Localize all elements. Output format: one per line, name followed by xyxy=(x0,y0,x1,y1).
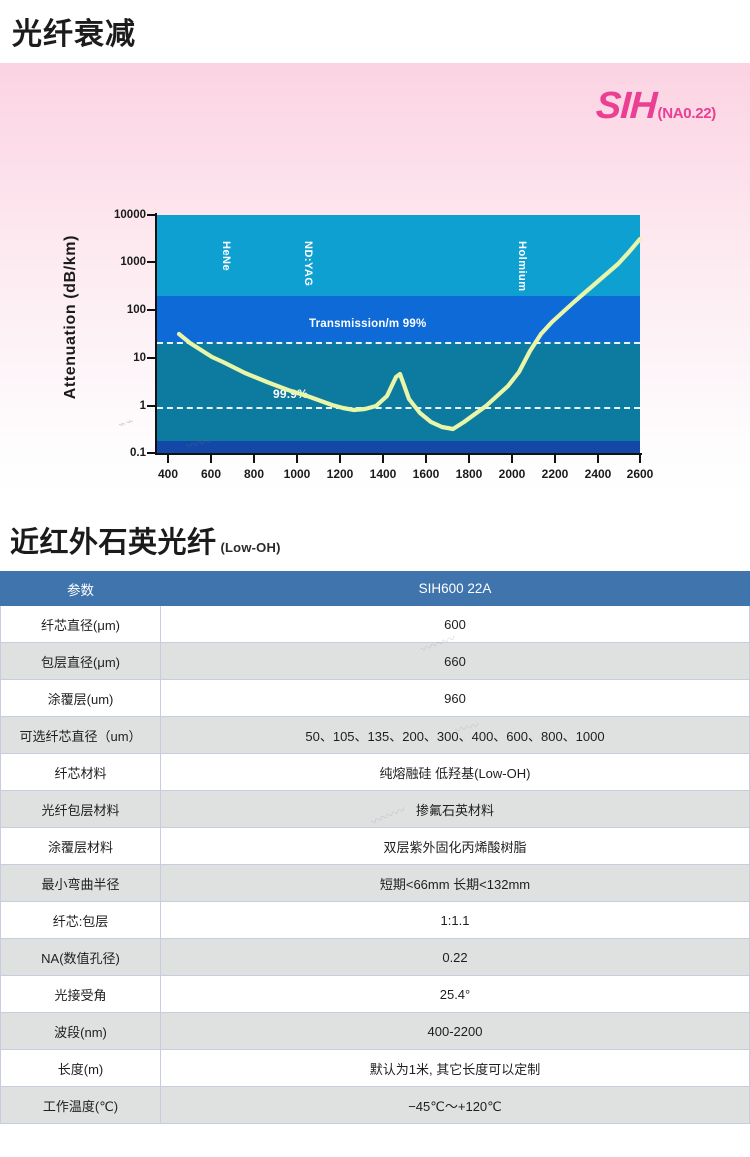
table-row: 涂覆层(um) 960 xyxy=(1,680,750,717)
row-param: 包层直径(μm) xyxy=(1,643,161,680)
table-row: 纤芯直径(μm) 600 xyxy=(1,606,750,643)
table-row: 最小弯曲半径 短期<66mm 长期<132mm xyxy=(1,865,750,902)
y-tick-mark-1000 xyxy=(147,261,156,263)
x-tick-label-2400: 2400 xyxy=(585,467,612,481)
row-param: 涂覆层材料 xyxy=(1,828,161,865)
y-axis-title: Attenuation (dB/km) xyxy=(62,235,80,399)
x-tick-mark-800 xyxy=(253,454,255,463)
row-param: NA(数值孔径) xyxy=(1,939,161,976)
table-row: 纤芯材料 纯熔融硅 低羟基(Low-OH) xyxy=(1,754,750,791)
row-value: 掺氟石英材料 xyxy=(161,791,750,828)
y-tick-mark-100 xyxy=(147,309,156,311)
table-row: 光接受角 25.4° xyxy=(1,976,750,1013)
row-param: 可选纤芯直径（um） xyxy=(1,717,161,754)
x-tick-label-2200: 2200 xyxy=(542,467,569,481)
y-tick-label-0.1: 0.1 xyxy=(130,447,146,459)
x-tick-mark-1800 xyxy=(468,454,470,463)
x-tick-mark-1000 xyxy=(296,454,298,463)
attenuation-chart-panel: SIH (NA0.22) HeNe ND:YAG Holmium Transmi… xyxy=(0,63,750,493)
row-param: 工作温度(℃) xyxy=(1,1087,161,1124)
table-row: NA(数值孔径) 0.22 xyxy=(1,939,750,976)
x-tick-label-2600: 2600 xyxy=(627,467,654,481)
row-value: 600 xyxy=(161,606,750,643)
page-title: 光纤衰减 xyxy=(0,0,750,63)
brand-name: SIH xyxy=(595,85,658,128)
brand-logo: SIH (NA0.22) xyxy=(596,85,716,128)
watermark-mark: ⌁⌁ xyxy=(116,413,136,433)
x-tick-mark-600 xyxy=(210,454,212,463)
x-tick-label-600: 600 xyxy=(201,467,221,481)
row-value: 双层紫外固化丙烯酸树脂 xyxy=(161,828,750,865)
column-header-parameter: 参数 xyxy=(1,572,161,606)
spec-table-body: 纤芯直径(μm) 600 包层直径(μm) 660 涂覆层(um) 960 可选… xyxy=(1,606,750,1124)
spec-table-head: 参数 SIH600 22A xyxy=(1,572,750,606)
spec-table: 参数 SIH600 22A 纤芯直径(μm) 600 包层直径(μm) 660 … xyxy=(0,571,750,1124)
row-param: 波段(nm) xyxy=(1,1013,161,1050)
y-tick-mark-10 xyxy=(147,357,156,359)
row-param: 光接受角 xyxy=(1,976,161,1013)
row-value: −45℃〜+120℃ xyxy=(161,1087,750,1124)
table-row: 包层直径(μm) 660 xyxy=(1,643,750,680)
row-param: 长度(m) xyxy=(1,1050,161,1087)
row-param: 最小弯曲半径 xyxy=(1,865,161,902)
x-tick-mark-1400 xyxy=(382,454,384,463)
x-tick-label-800: 800 xyxy=(244,467,264,481)
table-row: 长度(m) 默认为1米, 其它长度可以定制 xyxy=(1,1050,750,1087)
row-value: 25.4° xyxy=(161,976,750,1013)
row-value: 0.22 xyxy=(161,939,750,976)
x-axis-line xyxy=(155,453,642,455)
x-tick-label-1000: 1000 xyxy=(284,467,311,481)
row-value: 660 xyxy=(161,643,750,680)
section-heading: 近红外石英光纤 (Low-OH) xyxy=(0,493,750,571)
chart-plot-area: HeNe ND:YAG Holmium Transmission/m 99% 9… xyxy=(157,215,640,453)
y-tick-label-10000: 10000 xyxy=(114,209,146,221)
x-tick-label-400: 400 xyxy=(158,467,178,481)
row-param: 纤芯材料 xyxy=(1,754,161,791)
x-tick-mark-2000 xyxy=(511,454,513,463)
y-tick-label-1000: 1000 xyxy=(120,256,146,268)
table-row: 光纤包层材料 掺氟石英材料 xyxy=(1,791,750,828)
x-tick-label-1400: 1400 xyxy=(370,467,397,481)
x-tick-label-1600: 1600 xyxy=(413,467,440,481)
column-header-model: SIH600 22A xyxy=(161,572,750,606)
x-tick-label-1800: 1800 xyxy=(456,467,483,481)
brand-na-spec: (NA0.22) xyxy=(658,105,716,122)
row-value: 1:1.1 xyxy=(161,902,750,939)
x-tick-label-1200: 1200 xyxy=(327,467,354,481)
row-param: 纤芯直径(μm) xyxy=(1,606,161,643)
section-title: 近红外石英光纤 xyxy=(10,519,217,561)
y-axis-line xyxy=(155,213,157,455)
table-header-row: 参数 SIH600 22A xyxy=(1,572,750,606)
section-subtitle: (Low-OH) xyxy=(221,540,281,555)
y-tick-mark-10000 xyxy=(147,214,156,216)
x-tick-mark-2200 xyxy=(554,454,556,463)
table-row: 纤芯:包层 1:1.1 xyxy=(1,902,750,939)
y-tick-label-10: 10 xyxy=(133,352,146,364)
x-tick-mark-2600 xyxy=(639,454,641,463)
row-value: 960 xyxy=(161,680,750,717)
x-tick-mark-400 xyxy=(167,454,169,463)
x-tick-label-2000: 2000 xyxy=(499,467,526,481)
table-row: 波段(nm) 400-2200 xyxy=(1,1013,750,1050)
row-param: 光纤包层材料 xyxy=(1,791,161,828)
row-param: 纤芯:包层 xyxy=(1,902,161,939)
row-value: 纯熔融硅 低羟基(Low-OH) xyxy=(161,754,750,791)
table-row: 涂覆层材料 双层紫外固化丙烯酸树脂 xyxy=(1,828,750,865)
y-tick-mark-1 xyxy=(147,405,156,407)
row-value: 默认为1米, 其它长度可以定制 xyxy=(161,1050,750,1087)
y-tick-mark-0.1 xyxy=(147,452,156,454)
x-tick-mark-2400 xyxy=(597,454,599,463)
row-param: 涂覆层(um) xyxy=(1,680,161,717)
table-row: 工作温度(℃) −45℃〜+120℃ xyxy=(1,1087,750,1124)
y-tick-label-1: 1 xyxy=(140,400,146,412)
row-value: 短期<66mm 长期<132mm xyxy=(161,865,750,902)
row-value: 400-2200 xyxy=(161,1013,750,1050)
attenuation-curve-svg xyxy=(157,215,640,453)
row-value: 50、105、135、200、300、400、600、800、1000 xyxy=(161,717,750,754)
x-tick-mark-1600 xyxy=(425,454,427,463)
spec-table-wrapper: 参数 SIH600 22A 纤芯直径(μm) 600 包层直径(μm) 660 … xyxy=(0,571,750,1124)
x-tick-mark-1200 xyxy=(339,454,341,463)
table-row: 可选纤芯直径（um） 50、105、135、200、300、400、600、80… xyxy=(1,717,750,754)
attenuation-curve-path xyxy=(179,239,640,429)
y-tick-label-100: 100 xyxy=(127,304,146,316)
